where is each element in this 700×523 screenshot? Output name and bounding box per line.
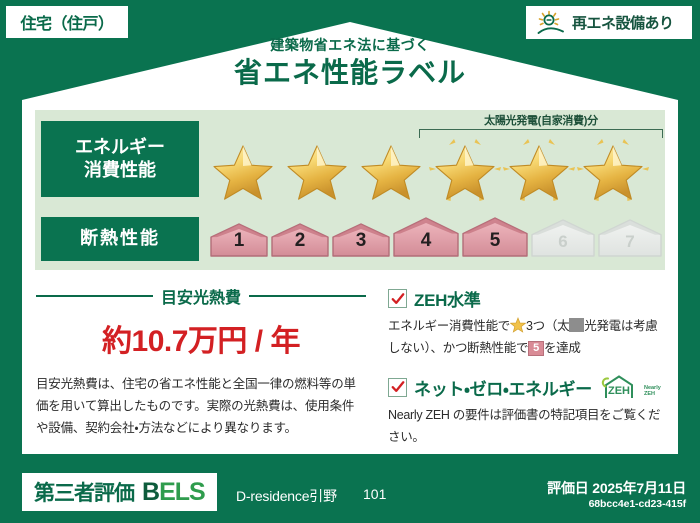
insulation-level-badge: 7 <box>597 218 663 258</box>
net-zero-energy-block: ネット・ゼロ・エネルギー ZEH Nearly ZEH Nearly ZEH の… <box>388 374 668 448</box>
star-icon <box>281 136 353 202</box>
svg-text:ZEH: ZEH <box>608 385 630 397</box>
zeh-logo-tag-line2: ZEH <box>644 391 655 397</box>
check-icon <box>388 289 407 308</box>
property-name: D-residence引野 <box>236 486 337 506</box>
utility-cost-title: 目安光熱費 <box>161 284 241 308</box>
heading-title: 省エネ性能ラベル <box>0 55 700 90</box>
insulation-level-number: 5 <box>490 230 501 252</box>
utility-cost-title-row: 目安光熱費 <box>36 284 366 308</box>
insulation-performance-label: 断熱性能 <box>41 217 199 261</box>
insulation-level-chip: 5 <box>528 341 544 356</box>
bels-logo-b: B <box>142 478 159 506</box>
insulation-level-badge: 2 <box>270 222 330 258</box>
insulation-level-number: 2 <box>295 230 306 252</box>
label-heading: 建築物省エネ法に基づく 省エネ性能ラベル <box>0 38 700 90</box>
insulation-level-number: 6 <box>558 232 567 252</box>
sun-icon <box>536 10 566 36</box>
zeh-standard-text: エネルギー消費性能で3つ（太光発電は考慮しない）、かつ断熱性能で5を達成 <box>388 316 668 359</box>
third-party-eval-label: 第三者評価 <box>34 477 134 507</box>
title-rule-left <box>36 295 153 297</box>
energy-performance-label: エネルギー 消費性能 <box>41 121 199 197</box>
zeh-standard-block: ZEH水準 エネルギー消費性能で3つ（太光発電は考慮しない）、かつ断熱性能で5を… <box>388 286 668 359</box>
star-rating-area: 太陽光発電(自家消費)分 <box>199 110 665 208</box>
energy-label-line1: エネルギー <box>75 136 165 159</box>
star-icon <box>355 136 427 202</box>
insulation-level-list: 1 2 3 <box>209 216 663 258</box>
star-icon <box>503 136 575 202</box>
star-rating-list <box>207 136 649 202</box>
insulation-level-badge: 3 <box>331 222 391 258</box>
zeh-text-star-count: 3つ（太 <box>526 319 569 333</box>
insulation-level-badge: 4 <box>392 216 460 258</box>
insulation-level-area: 1 2 3 <box>199 208 665 270</box>
zeh-text-part3: を達成 <box>544 341 581 355</box>
zeh-standard-header: ZEH水準 <box>388 286 668 311</box>
bels-logo: BELS <box>142 478 205 507</box>
insulation-performance-row: 断熱性能 1 <box>35 208 665 270</box>
heading-subtitle: 建築物省エネ法に基づく <box>0 38 700 53</box>
evaluation-date: 評価日 2025年7月11日 <box>547 478 686 498</box>
inline-star-icon <box>510 317 526 333</box>
evaluation-id: 68bcc4e1-cd23-415f <box>589 498 686 510</box>
renewable-energy-badge: 再エネ設備あり <box>526 6 692 39</box>
check-icon <box>388 378 407 397</box>
energy-label-line2: 消費性能 <box>84 159 156 182</box>
title-rule-right <box>249 295 366 297</box>
insulation-level-number: 3 <box>356 230 367 252</box>
utility-cost-note: 目安光熱費は、住宅の省エネ性能と全国一律の燃料等の単価を用いて算出したものです。… <box>36 374 366 440</box>
property-number: 101 <box>363 486 386 502</box>
redacted-character <box>569 318 584 332</box>
energy-performance-label: 住宅（住戸） 再エネ設備あり 建築物省エネ法に基づく <box>0 0 700 523</box>
insulation-level-number: 7 <box>625 232 634 252</box>
star-icon <box>577 136 649 202</box>
category-badge-label: 住宅（住戸） <box>20 10 113 34</box>
bels-plate: 第三者評価 BELS <box>22 473 217 511</box>
bels-logo-els: ELS <box>159 478 205 506</box>
performance-panel: エネルギー 消費性能 太陽光発電(自家消費)分 <box>35 110 665 270</box>
insulation-level-number: 4 <box>421 230 432 252</box>
insulation-label-text: 断熱性能 <box>80 227 160 250</box>
zeh-standard-title: ZEH水準 <box>414 286 481 311</box>
utility-cost-value: 約10.7万円 / 年 <box>36 316 366 360</box>
insulation-level-badge: 1 <box>209 222 269 258</box>
zeh-text-part1: エネルギー消費性能で <box>388 319 510 333</box>
insulation-level-number: 1 <box>234 230 245 252</box>
net-zero-energy-title: ネット・ゼロ・エネルギー <box>414 375 592 400</box>
energy-performance-row: エネルギー 消費性能 太陽光発電(自家消費)分 <box>35 110 665 208</box>
net-zero-energy-header: ネット・ゼロ・エネルギー ZEH Nearly ZEH <box>388 374 668 400</box>
star-icon <box>207 136 279 202</box>
solar-annotation-text: 太陽光発電(自家消費)分 <box>417 112 665 128</box>
utility-cost-block: 目安光熱費 約10.7万円 / 年 目安光熱費は、住宅の省エネ性能と全国一律の燃… <box>36 284 366 440</box>
zeh-logo-tag: Nearly ZEH <box>644 385 661 400</box>
renewable-badge-label: 再エネ設備あり <box>572 12 674 33</box>
star-icon <box>429 136 501 202</box>
zeh-info-column: ZEH水準 エネルギー消費性能で3つ（太光発電は考慮しない）、かつ断熱性能で5を… <box>388 286 668 448</box>
category-badge: 住宅（住戸） <box>6 6 128 38</box>
zeh-house-logo-icon: ZEH <box>599 374 639 400</box>
insulation-level-badge: 6 <box>530 218 596 258</box>
insulation-level-badge: 5 <box>461 216 529 258</box>
footer-band: 第三者評価 BELS D-residence引野 101 評価日 2025年7月… <box>0 461 700 523</box>
net-zero-energy-text: Nearly ZEH の要件は評価書の特記項目をご覧ください。 <box>388 405 668 448</box>
